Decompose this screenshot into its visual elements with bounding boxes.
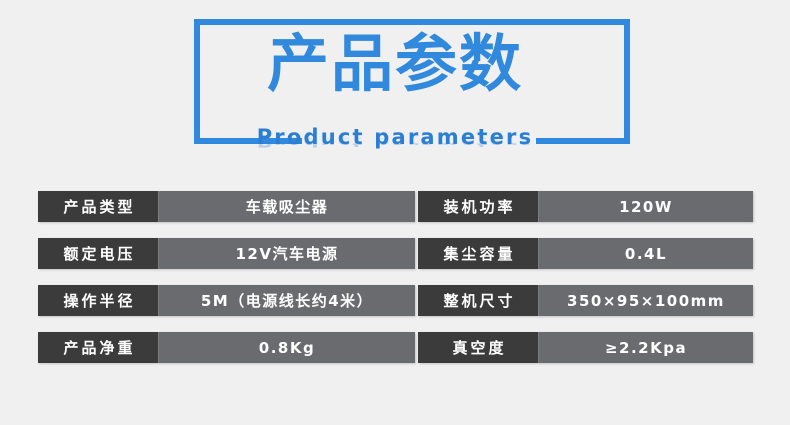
spec-label: 集尘容量 — [418, 238, 538, 269]
spec-value: 12V汽车电源 — [158, 238, 415, 269]
spec-label: 整机尺寸 — [418, 285, 538, 316]
table-row: 额定电压 12V汽车电源 集尘容量 0.4L — [38, 238, 753, 269]
spec-value: 120W — [538, 191, 753, 222]
table-row: 产品净重 0.8Kg 真空度 ≥2.2Kpa — [38, 332, 753, 363]
spec-pair-right: 真空度 ≥2.2Kpa — [418, 332, 753, 363]
spec-pair-right: 集尘容量 0.4L — [418, 238, 753, 269]
spec-label: 装机功率 — [418, 191, 538, 222]
spec-value: 5M（电源线长约4米） — [158, 285, 415, 316]
table-row: 产品类型 车载吸尘器 装机功率 120W — [38, 191, 753, 222]
page-subtitle-reflection: Product parameters — [0, 134, 790, 150]
spec-pair-right: 整机尺寸 350×95×100mm — [418, 285, 753, 316]
spec-value: 车载吸尘器 — [158, 191, 415, 222]
spec-label: 产品类型 — [38, 191, 158, 222]
spec-pair-left: 产品类型 车载吸尘器 — [38, 191, 415, 222]
spec-label: 额定电压 — [38, 238, 158, 269]
table-row: 操作半径 5M（电源线长约4米） 整机尺寸 350×95×100mm — [38, 285, 753, 316]
spec-value: 350×95×100mm — [538, 285, 753, 316]
spec-pair-left: 产品净重 0.8Kg — [38, 332, 415, 363]
spec-pair-left: 操作半径 5M（电源线长约4米） — [38, 285, 415, 316]
spec-pair-left: 额定电压 12V汽车电源 — [38, 238, 415, 269]
spec-value: 0.4L — [538, 238, 753, 269]
page-title: 产品参数 — [0, 24, 790, 104]
specification-table: 产品类型 车载吸尘器 装机功率 120W 额定电压 12V汽车电源 集尘容量 0… — [38, 191, 753, 363]
spec-value: ≥2.2Kpa — [538, 332, 753, 363]
page-header: 产品参数 Product parameters Product paramete… — [0, 0, 790, 178]
spec-label: 操作半径 — [38, 285, 158, 316]
spec-pair-right: 装机功率 120W — [418, 191, 753, 222]
spec-label: 真空度 — [418, 332, 538, 363]
spec-value: 0.8Kg — [158, 332, 415, 363]
spec-label: 产品净重 — [38, 332, 158, 363]
